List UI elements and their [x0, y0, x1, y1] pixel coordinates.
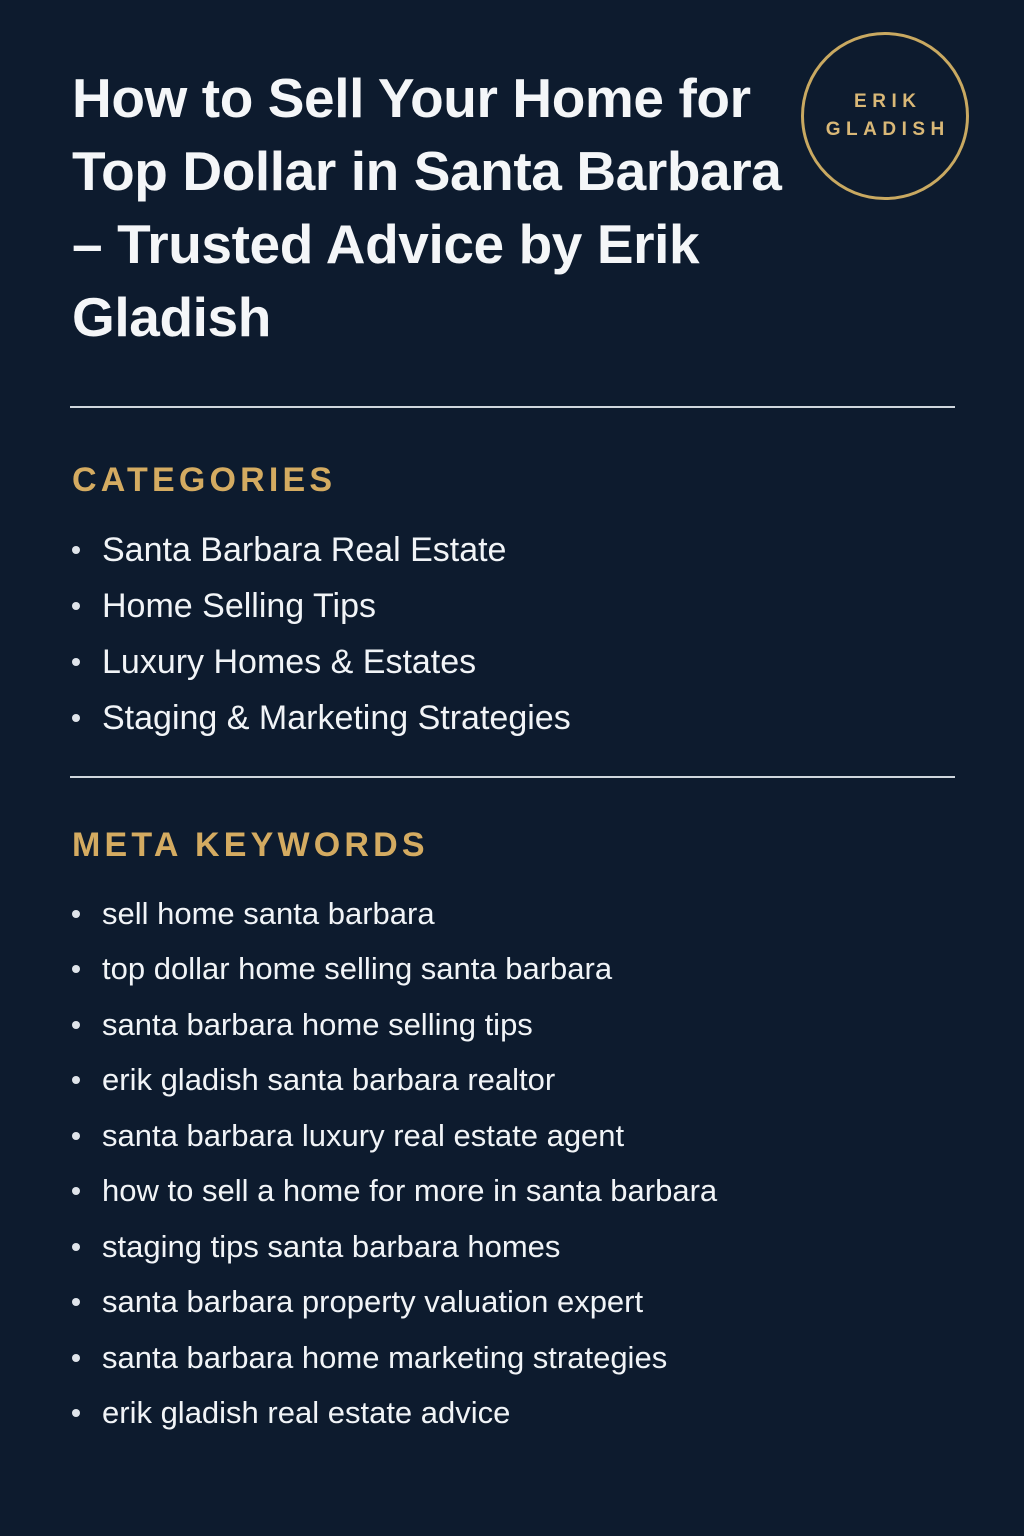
erik-gladish-logo-badge: ERIK GLADISH	[801, 32, 969, 200]
categories-heading: CATEGORIES	[72, 463, 336, 497]
list-item: Luxury Homes & Estates	[70, 634, 571, 690]
list-item: santa barbara luxury real estate agent	[70, 1108, 717, 1163]
list-item: Santa Barbara Real Estate	[70, 522, 571, 578]
list-item: santa barbara home marketing strategies	[70, 1330, 717, 1385]
meta-keywords-heading: META KEYWORDS	[72, 828, 429, 862]
list-item: santa barbara property valuation expert	[70, 1274, 717, 1329]
list-item: erik gladish real estate advice	[70, 1385, 717, 1440]
meta-keywords-list: sell home santa barbara top dollar home …	[70, 886, 717, 1441]
list-item: sell home santa barbara	[70, 886, 717, 941]
list-item: santa barbara home selling tips	[70, 997, 717, 1052]
list-item: Home Selling Tips	[70, 578, 571, 634]
list-item: staging tips santa barbara homes	[70, 1219, 717, 1274]
list-item: Staging & Marketing Strategies	[70, 690, 571, 746]
list-item: top dollar home selling santa barbara	[70, 941, 717, 996]
categories-list: Santa Barbara Real Estate Home Selling T…	[70, 522, 571, 746]
badge-name-last: GLADISH	[820, 116, 950, 144]
page-title: How to Sell Your Home for Top Dollar in …	[72, 62, 792, 355]
list-item: how to sell a home for more in santa bar…	[70, 1163, 717, 1218]
badge-name-first: ERIK	[849, 88, 922, 116]
list-item: erik gladish santa barbara realtor	[70, 1052, 717, 1107]
pin-card: ERIK GLADISH How to Sell Your Home for T…	[0, 0, 1024, 1536]
divider-above-meta-keywords	[70, 776, 955, 778]
divider-above-categories	[70, 406, 955, 408]
